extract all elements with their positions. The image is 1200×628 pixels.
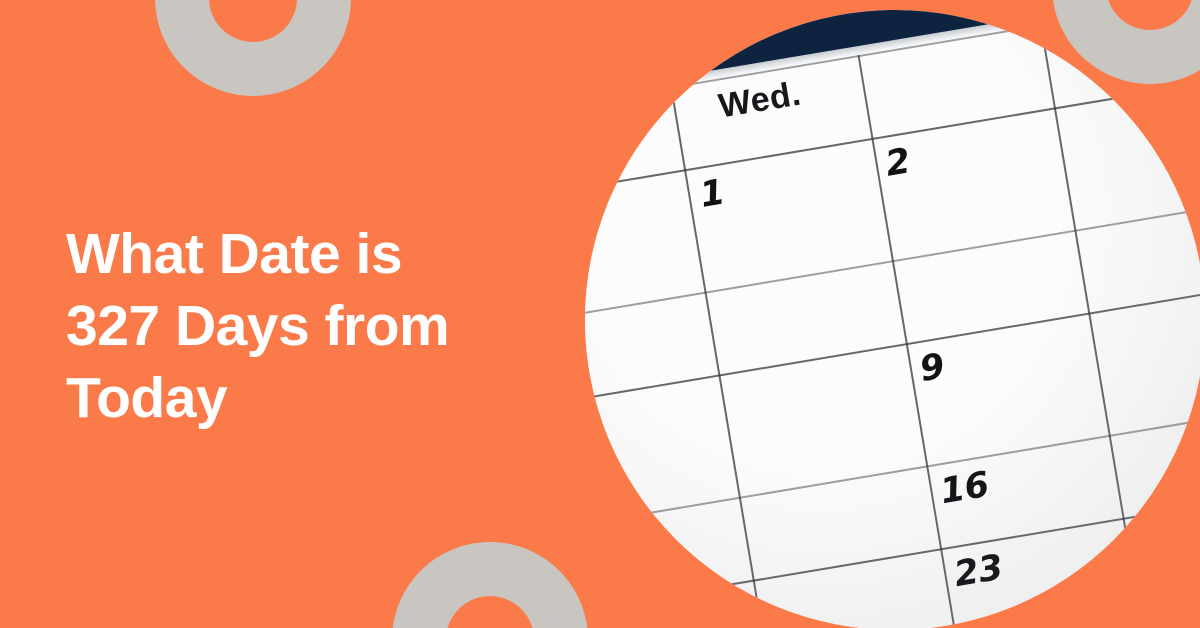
calendar-day-label-wed: Wed. xyxy=(716,74,804,126)
page-title: What Date is 327 Days from Today xyxy=(66,218,586,434)
ring-top-left-decoration xyxy=(155,0,351,96)
calendar-gridline-h xyxy=(585,266,1200,426)
calendar-sheet: es. Wed. Thur. 1 2 3 8 9 10 15 16 17 22 … xyxy=(585,10,1200,628)
calendar-date-cell: 1 xyxy=(697,172,728,215)
calendar-day-label-thur: Thur. xyxy=(1076,14,1167,67)
calendar-photo: es. Wed. Thur. 1 2 3 8 9 10 15 16 17 22 … xyxy=(585,10,1200,628)
calendar-gridline-h xyxy=(585,471,1200,628)
calendar-date-cell: 16 xyxy=(938,465,993,512)
calendar-date-cell: 23 xyxy=(951,548,1006,595)
calendar-date-cell: 2 xyxy=(883,141,914,184)
calendar-gridline-v xyxy=(1040,24,1164,628)
calendar-date-cell: 22 xyxy=(588,608,643,628)
calendar-gridline-h xyxy=(585,593,1200,628)
calendar-date-cell: 9 xyxy=(917,346,948,389)
calendar-gridline-h xyxy=(585,388,1200,548)
calendar-date-cell: 15 xyxy=(585,526,629,573)
ring-bottom-center-decoration xyxy=(392,542,588,628)
banner-canvas: What Date is 327 Days from Today es. Wed… xyxy=(0,0,1200,628)
